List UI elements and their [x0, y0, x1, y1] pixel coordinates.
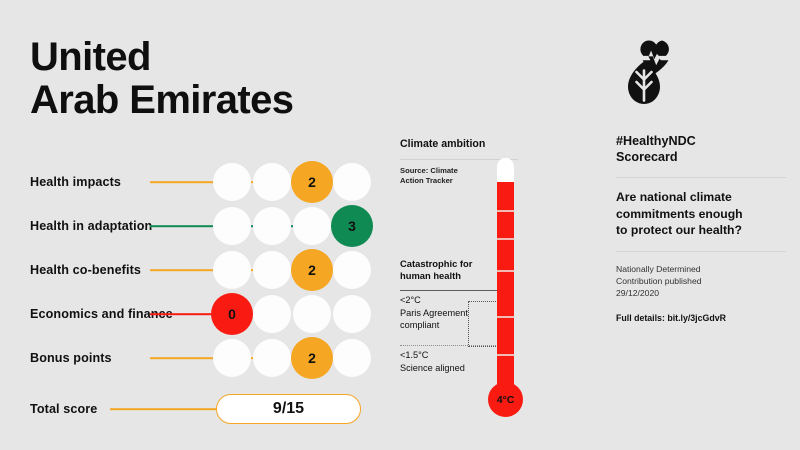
- headline-line1: Are national climate: [616, 189, 792, 206]
- climate-ambition-source: Source: Climate Action Tracker: [400, 166, 540, 186]
- infographic-page: United Arab Emirates Health impacts2Heal…: [0, 0, 800, 450]
- score-row: Health impacts2: [0, 160, 390, 204]
- score-row-label: Health co-benefits: [30, 263, 141, 277]
- score-dot-empty: [213, 163, 251, 201]
- source-line2: Action Tracker: [400, 176, 540, 186]
- score-dot-empty: [293, 295, 331, 333]
- score-row: Health co-benefits2: [0, 248, 390, 292]
- thermometer-tick: [497, 354, 514, 356]
- score-dot-empty: [253, 207, 291, 245]
- score-dot-empty: [213, 251, 251, 289]
- total-score-value: 9/15: [216, 394, 361, 424]
- climate-ambition-section: Climate ambition Source: Climate Action …: [400, 138, 540, 186]
- score-row: Bonus points2: [0, 336, 390, 380]
- thermometer-tick: [497, 238, 514, 240]
- thermometer-bulb-reading: 4°C: [488, 382, 523, 417]
- note-catastrophic: Catastrophic for human health: [400, 258, 500, 282]
- threshold-15c-value: <1.5°C: [400, 349, 500, 362]
- score-dot-empty: [213, 207, 251, 245]
- divider: [616, 177, 786, 178]
- score-dot-filled: 2: [291, 249, 333, 291]
- score-dot-empty: [333, 251, 371, 289]
- brand-name: #HealthyNDC Scorecard: [616, 133, 792, 165]
- score-dot-empty: [213, 339, 251, 377]
- total-score-label: Total score: [30, 402, 97, 416]
- paris-range-bracket: [468, 301, 498, 347]
- full-details-link[interactable]: Full details: bit.ly/3jcGdvR: [616, 313, 792, 323]
- score-row-label: Bonus points: [30, 351, 112, 365]
- right-panel: #HealthyNDC Scorecard Are national clima…: [616, 30, 792, 323]
- note-catastrophic-line2: human health: [400, 270, 500, 282]
- ndc-published-date: 29/12/2020: [616, 287, 792, 299]
- source-line1: Source: Climate: [400, 166, 540, 176]
- headline: Are national climate commitments enough …: [616, 189, 792, 239]
- country-title-line1: United: [30, 36, 293, 79]
- note-science-aligned: <1.5°C Science aligned: [400, 349, 500, 374]
- score-dot-filled: 2: [291, 337, 333, 379]
- science-aligned-label: Science aligned: [400, 362, 500, 375]
- note-catastrophic-line1: Catastrophic for: [400, 258, 500, 270]
- thermometer-tick: [497, 210, 514, 212]
- ndc-meta-line1: Nationally Determined: [616, 263, 792, 275]
- total-connector-line: [110, 408, 218, 410]
- score-row: Economics and finance0: [0, 292, 390, 336]
- score-dot-empty: [253, 163, 291, 201]
- score-dot-filled: 3: [331, 205, 373, 247]
- heart-pulse-leaf-icon: [622, 34, 686, 106]
- score-dot-empty: [333, 163, 371, 201]
- score-dot-empty: [293, 207, 331, 245]
- thermometer-tube: [497, 158, 514, 400]
- climate-ambition-title: Climate ambition: [400, 138, 540, 150]
- score-dot-empty: [253, 295, 291, 333]
- score-row-label: Health impacts: [30, 175, 121, 189]
- score-row: Health in adaptation3: [0, 204, 390, 248]
- score-dot-empty: [333, 339, 371, 377]
- divider: [616, 251, 786, 252]
- thermometer-tick: [497, 270, 514, 272]
- thermometer-fill: [497, 182, 514, 400]
- score-dot-empty: [253, 339, 291, 377]
- thermometer-tick: [497, 316, 514, 318]
- country-title-line2: Arab Emirates: [30, 79, 293, 122]
- brand-line2: Scorecard: [616, 149, 792, 165]
- threshold-2c-rule: [400, 290, 512, 291]
- score-dot-filled: 2: [291, 161, 333, 203]
- score-dot-empty: [333, 295, 371, 333]
- scorecard: Health impacts2Health in adaptation3Heal…: [0, 160, 390, 432]
- page-title: United Arab Emirates: [30, 36, 293, 122]
- ndc-publication-meta: Nationally Determined Contribution publi…: [616, 263, 792, 300]
- headline-line3: to protect our health?: [616, 222, 792, 239]
- score-dot-filled: 0: [211, 293, 253, 335]
- total-score-row: Total score9/15: [0, 386, 390, 432]
- score-dot-empty: [253, 251, 291, 289]
- ndc-meta-line2: Contribution published: [616, 275, 792, 287]
- headline-line2: commitments enough: [616, 206, 792, 223]
- brand-line1: #HealthyNDC: [616, 133, 792, 149]
- score-row-label: Health in adaptation: [30, 219, 152, 233]
